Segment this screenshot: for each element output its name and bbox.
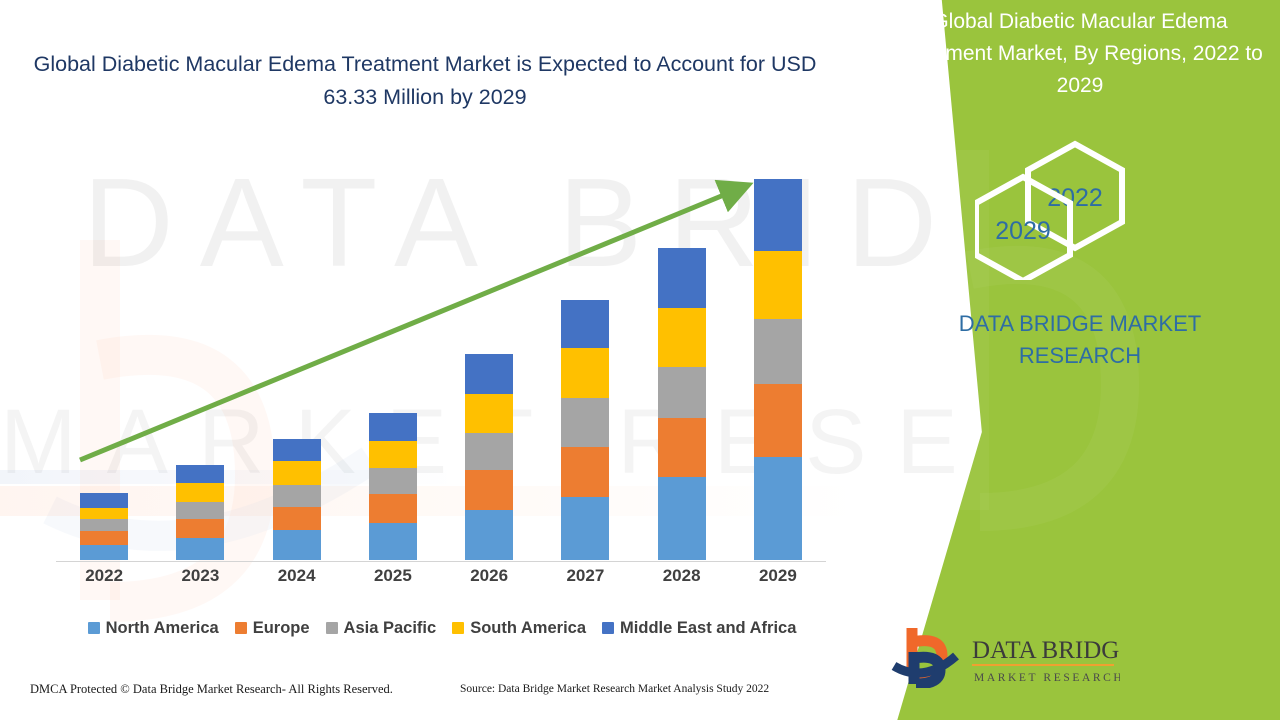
logo-primary-text: DATA BRIDGE <box>972 637 1120 664</box>
bar-segment-south-america[interactable] <box>273 461 321 484</box>
bar-group-2026[interactable] <box>465 354 513 560</box>
bar-segment-north-america[interactable] <box>561 497 609 561</box>
bar-segment-middle-east-and-africa[interactable] <box>754 179 802 251</box>
bar-segment-middle-east-and-africa[interactable] <box>658 248 706 308</box>
legend-swatch-icon <box>235 622 247 634</box>
bar-segment-asia-pacific[interactable] <box>465 433 513 470</box>
bar-segment-north-america[interactable] <box>465 510 513 560</box>
legend-swatch-icon <box>602 622 614 634</box>
bar-segment-europe[interactable] <box>273 507 321 530</box>
bar-segment-south-america[interactable] <box>465 394 513 433</box>
bar-group-2024[interactable] <box>273 439 321 560</box>
bar-segment-europe[interactable] <box>561 447 609 497</box>
chart-title: Global Diabetic Macular Edema Treatment … <box>30 48 820 114</box>
x-axis-label-2028: 2028 <box>634 566 730 586</box>
legend-item-middle-east-and-africa[interactable]: Middle East and Africa <box>602 619 796 638</box>
bar-segment-south-america[interactable] <box>658 308 706 367</box>
x-axis-label-2025: 2025 <box>345 566 441 586</box>
legend-item-asia-pacific[interactable]: Asia Pacific <box>326 619 437 638</box>
legend-label: North America <box>106 619 219 638</box>
bar-segment-asia-pacific[interactable] <box>273 485 321 507</box>
bar-segment-asia-pacific[interactable] <box>80 519 128 531</box>
source-text: Source: Data Bridge Market Research Mark… <box>460 683 769 695</box>
bar-group-2023[interactable] <box>176 465 224 560</box>
bar-segment-middle-east-and-africa[interactable] <box>369 413 417 441</box>
x-axis-label-2022: 2022 <box>56 566 152 586</box>
bar-segment-north-america[interactable] <box>273 530 321 560</box>
bar-group-2027[interactable] <box>561 300 609 560</box>
panel-title: Global Diabetic Macular Edema Treatment … <box>890 6 1270 102</box>
legend-item-south-america[interactable]: South America <box>452 619 586 638</box>
legend-label: Middle East and Africa <box>620 619 796 638</box>
bar-group-2028[interactable] <box>658 248 706 560</box>
legend-item-europe[interactable]: Europe <box>235 619 310 638</box>
bar-segment-middle-east-and-africa[interactable] <box>561 300 609 348</box>
legend-swatch-icon <box>88 622 100 634</box>
bar-segment-middle-east-and-africa[interactable] <box>80 493 128 508</box>
bar-segment-north-america[interactable] <box>754 457 802 560</box>
legend-swatch-icon <box>452 622 464 634</box>
bar-segment-south-america[interactable] <box>80 508 128 519</box>
bar-segment-south-america[interactable] <box>754 251 802 320</box>
infographic-root: DATA BRIDGE MARKET RESEARCH Global Diabe… <box>0 0 1280 720</box>
bar-segment-north-america[interactable] <box>80 545 128 560</box>
chart-plot-area <box>56 150 826 562</box>
hexagon-2029-label: 2029 <box>995 217 1051 245</box>
bar-segment-middle-east-and-africa[interactable] <box>176 465 224 483</box>
bar-segment-europe[interactable] <box>369 494 417 523</box>
x-axis-label-2026: 2026 <box>441 566 537 586</box>
bar-segment-north-america[interactable] <box>369 523 417 560</box>
bar-group-2022[interactable] <box>80 493 128 560</box>
legend-label: Asia Pacific <box>344 619 437 638</box>
legend-item-north-america[interactable]: North America <box>88 619 219 638</box>
chart-legend: North AmericaEuropeAsia PacificSouth Ame… <box>56 615 828 641</box>
bar-group-2025[interactable] <box>369 413 417 560</box>
bar-group-2029[interactable] <box>754 179 802 560</box>
bar-series-container <box>56 150 826 561</box>
x-axis-label-2029: 2029 <box>730 566 826 586</box>
legend-label: South America <box>470 619 586 638</box>
bar-segment-asia-pacific[interactable] <box>176 502 224 520</box>
hexagon-years-graphic: 2022 2029 <box>975 140 1185 280</box>
bar-segment-asia-pacific[interactable] <box>658 367 706 418</box>
bar-segment-europe[interactable] <box>658 418 706 477</box>
bar-segment-middle-east-and-africa[interactable] <box>465 354 513 394</box>
bar-segment-south-america[interactable] <box>176 483 224 501</box>
x-axis-line <box>56 561 826 562</box>
copyright-text: DMCA Protected © Data Bridge Market Rese… <box>30 682 393 697</box>
x-axis-label-2024: 2024 <box>249 566 345 586</box>
bar-segment-north-america[interactable] <box>658 477 706 560</box>
bar-segment-middle-east-and-africa[interactable] <box>273 439 321 461</box>
x-axis-label-2023: 2023 <box>152 566 248 586</box>
bar-segment-europe[interactable] <box>176 519 224 537</box>
x-axis-labels: 20222023202420252026202720282029 <box>56 566 826 594</box>
panel-brand-text: DATA BRIDGE MARKET RESEARCH <box>930 308 1230 372</box>
bar-segment-asia-pacific[interactable] <box>754 319 802 384</box>
bar-segment-north-america[interactable] <box>176 538 224 560</box>
legend-label: Europe <box>253 619 310 638</box>
bar-segment-south-america[interactable] <box>369 441 417 468</box>
bar-segment-europe[interactable] <box>754 384 802 457</box>
x-axis-label-2027: 2027 <box>537 566 633 586</box>
bar-segment-europe[interactable] <box>80 531 128 545</box>
bar-segment-asia-pacific[interactable] <box>369 468 417 494</box>
bar-segment-asia-pacific[interactable] <box>561 398 609 447</box>
bar-segment-europe[interactable] <box>465 470 513 510</box>
logo-secondary-text: MARKET RESEARCH <box>974 672 1120 684</box>
dbmr-logo: DATA BRIDGE MARKET RESEARCH <box>890 622 1120 688</box>
bar-segment-south-america[interactable] <box>561 348 609 397</box>
legend-swatch-icon <box>326 622 338 634</box>
